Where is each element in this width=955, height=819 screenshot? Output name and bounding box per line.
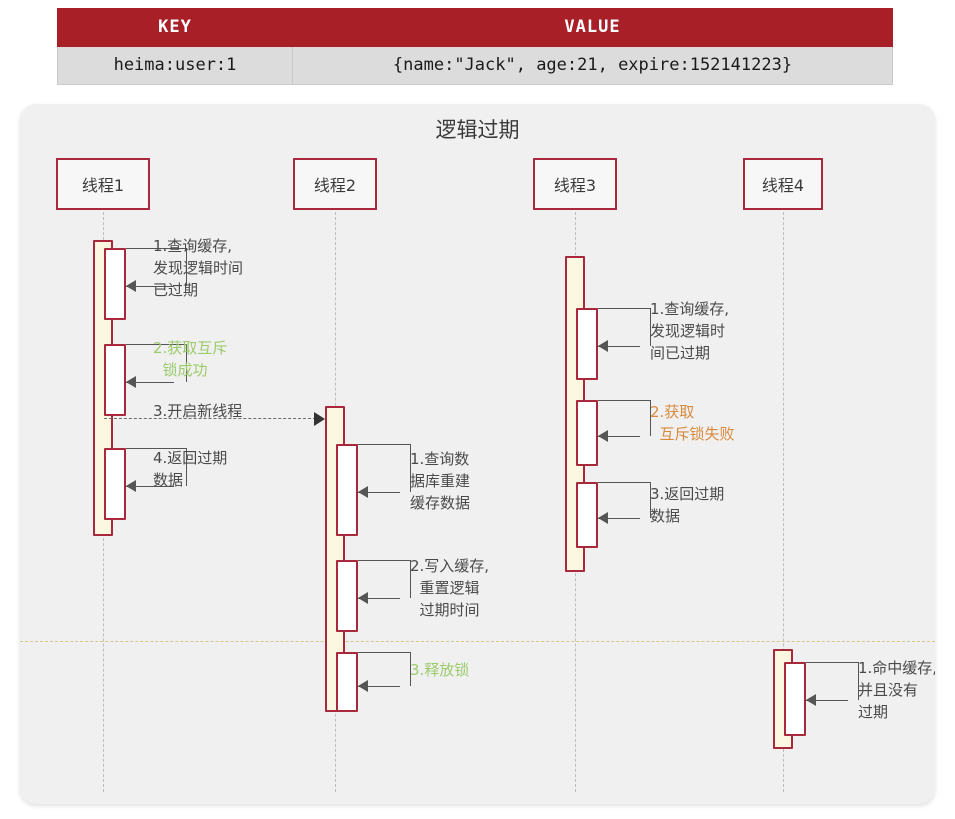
- note-thread4-step1: 1.命中缓存, 并且没有 过期: [858, 658, 935, 723]
- thread-box-3: 线程3: [533, 158, 617, 210]
- activation-thread2-step2: [336, 560, 358, 632]
- note-thread2-step1: 1.查询数 据库重建 缓存数据: [410, 449, 470, 514]
- note-thread1-step1: 1.查询缓存, 发现逻辑时间 已过期: [153, 236, 243, 301]
- selfcall-thread2-step1: [358, 444, 410, 492]
- diagram-title: 逻辑过期: [20, 114, 935, 144]
- selfcall-thread2-step3: [358, 652, 410, 686]
- activation-thread2-step3: [336, 652, 358, 712]
- key-value-table: KEY VALUE heima:user:1 {name:"Jack", age…: [57, 8, 893, 85]
- selfcall-thread2-step2: [358, 560, 410, 598]
- selfcall-thread3-step1: [598, 308, 650, 346]
- note-thread3-step2: 2.获取 互斥锁失败: [650, 402, 735, 446]
- selfcall-thread4-step1: [806, 662, 858, 700]
- activation-thread1-step2: [104, 344, 126, 416]
- note-thread3-step1: 1.查询缓存, 发现逻辑时 间已过期: [650, 299, 729, 364]
- expiry-separator-line: [20, 641, 935, 642]
- activation-thread1-step4: [104, 448, 126, 520]
- async-message-line: [104, 418, 316, 419]
- thread-box-4: 线程4: [743, 158, 823, 210]
- note-thread2-step3: 3.释放锁: [410, 660, 469, 682]
- activation-thread3-step2: [576, 400, 598, 466]
- selfcall-thread3-step3: [598, 482, 650, 518]
- note-thread1-step4: 4.返回过期 数据: [153, 448, 227, 492]
- column-header-value: VALUE: [293, 9, 893, 47]
- activation-thread2-step1: [336, 444, 358, 536]
- activation-thread3-step3: [576, 482, 598, 548]
- activation-thread4-step1: [784, 662, 806, 736]
- table-row: heima:user:1 {name:"Jack", age:21, expir…: [58, 47, 893, 85]
- thread-label-2: 线程2: [314, 172, 356, 196]
- note-thread3-step3: 3.返回过期 数据: [650, 484, 724, 528]
- thread-box-2: 线程2: [293, 158, 377, 210]
- table-header-row: KEY VALUE: [58, 9, 893, 47]
- selfcall-thread3-step2: [598, 400, 650, 436]
- thread-label-1: 线程1: [82, 172, 124, 196]
- async-message-arrowhead: [314, 412, 325, 426]
- sequence-diagram-panel: 逻辑过期 线程1 线程2 线程3 线程4 1.查询缓存, 发现逻辑时间 已过期 …: [20, 104, 935, 804]
- cell-value: {name:"Jack", age:21, expire:152141223}: [293, 47, 893, 85]
- activation-thread1-step1: [104, 248, 126, 320]
- note-thread1-step2: 2.获取互斥 锁成功: [153, 338, 227, 382]
- cell-key: heima:user:1: [58, 47, 293, 85]
- thread-label-3: 线程3: [554, 172, 596, 196]
- activation-thread3-step1: [576, 308, 598, 380]
- thread-box-1: 线程1: [56, 158, 150, 210]
- note-thread2-step2: 2.写入缓存, 重置逻辑 过期时间: [410, 556, 489, 621]
- column-header-key: KEY: [58, 9, 293, 47]
- thread-label-4: 线程4: [762, 172, 804, 196]
